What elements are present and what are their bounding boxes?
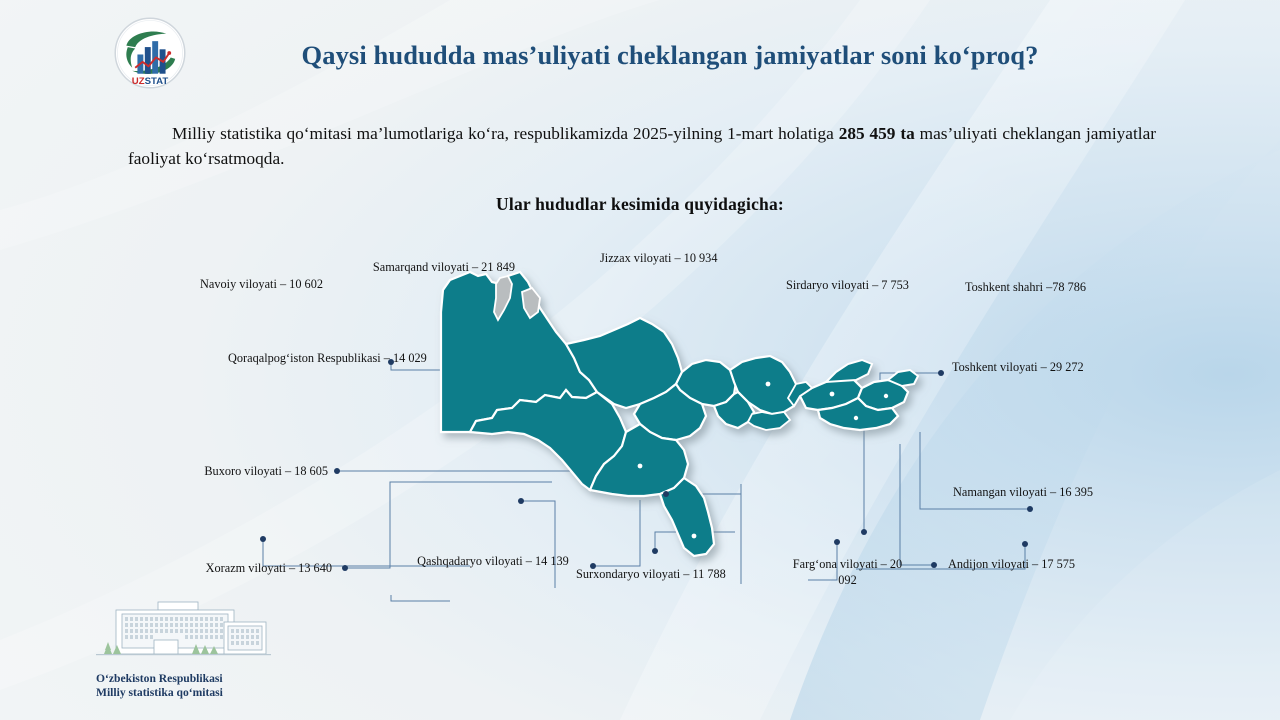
footer-caption: O‘zbekiston Respublikasi Milliy statisti… — [96, 672, 223, 700]
label-buxoro: Buxoro viloyati – 18 605 — [130, 464, 328, 480]
label-toshkent-viloyati: Toshkent viloyati – 29 272 — [952, 360, 1182, 376]
label-namangan: Namangan viloyati – 16 395 — [953, 485, 1173, 501]
label-qashqadaryo: Qashqadaryo viloyati – 14 139 — [400, 554, 586, 570]
city-marker-termiz — [692, 534, 697, 539]
footer-line-2: Milliy statistika qo‘mitasi — [96, 686, 223, 700]
city-marker-qarshi — [638, 464, 643, 469]
uzstat-logo: UZSTAT — [113, 16, 187, 90]
label-jizzax: Jizzax viloyati – 10 934 — [600, 251, 800, 267]
map-regions-group — [441, 272, 918, 556]
label-toshkent-shahri: Toshkent shahri –78 786 — [965, 280, 1175, 296]
region-namangan-spur — [826, 360, 872, 382]
label-navoiy: Navoiy viloyati – 10 602 — [128, 277, 323, 293]
svg-text:UZSTAT: UZSTAT — [132, 76, 169, 87]
intro-paragraph: Milliy statistika qo‘mitasi ma’lumotlari… — [128, 121, 1156, 171]
city-marker-toshkent — [766, 382, 771, 387]
label-qoraqalpogiston: Qoraqalpog‘iston Respublikasi – 14 029 — [228, 351, 438, 367]
label-fargona: Farg‘ona viloyati – 20 092 — [790, 557, 905, 588]
label-sirdaryo: Sirdaryo viloyati – 7 753 — [786, 278, 986, 294]
header: UZSTAT Qaysi hududda mas’uliyati cheklan… — [0, 0, 1280, 104]
subheading: Ular hududlar kesimida quyidagicha: — [0, 194, 1280, 215]
intro-highlight-number: 285 459 ta — [839, 124, 915, 143]
infographic-slide: UZSTAT Qaysi hududda mas’uliyati cheklan… — [0, 0, 1280, 720]
city-marker-fargona — [854, 416, 858, 420]
city-marker-namangan — [830, 392, 835, 397]
region-surxondaryo — [660, 478, 714, 556]
label-xorazm: Xorazm viloyati – 13 640 — [140, 561, 332, 577]
intro-text-before: Milliy statistika qo‘mitasi ma’lumotlari… — [172, 124, 839, 143]
city-marker-andijon — [884, 394, 888, 398]
uzbekistan-map-container: Navoiy viloyati – 10 602 Samarqand viloy… — [0, 232, 1280, 604]
page-title: Qaysi hududda mas’uliyati cheklangan jam… — [200, 40, 1140, 71]
label-surxondaryo: Surxondaryo viloyati – 11 788 — [576, 567, 806, 583]
footer-line-1: O‘zbekiston Respublikasi — [96, 672, 223, 686]
label-andijon: Andijon viloyati – 17 575 — [948, 557, 1158, 573]
footer: O‘zbekiston Respublikasi Milliy statisti… — [88, 600, 368, 710]
label-samarqand: Samarqand viloyati – 21 849 — [310, 260, 515, 276]
statistics-committee-building-logo — [96, 600, 271, 662]
region-sirdaryo-south — [748, 412, 790, 430]
